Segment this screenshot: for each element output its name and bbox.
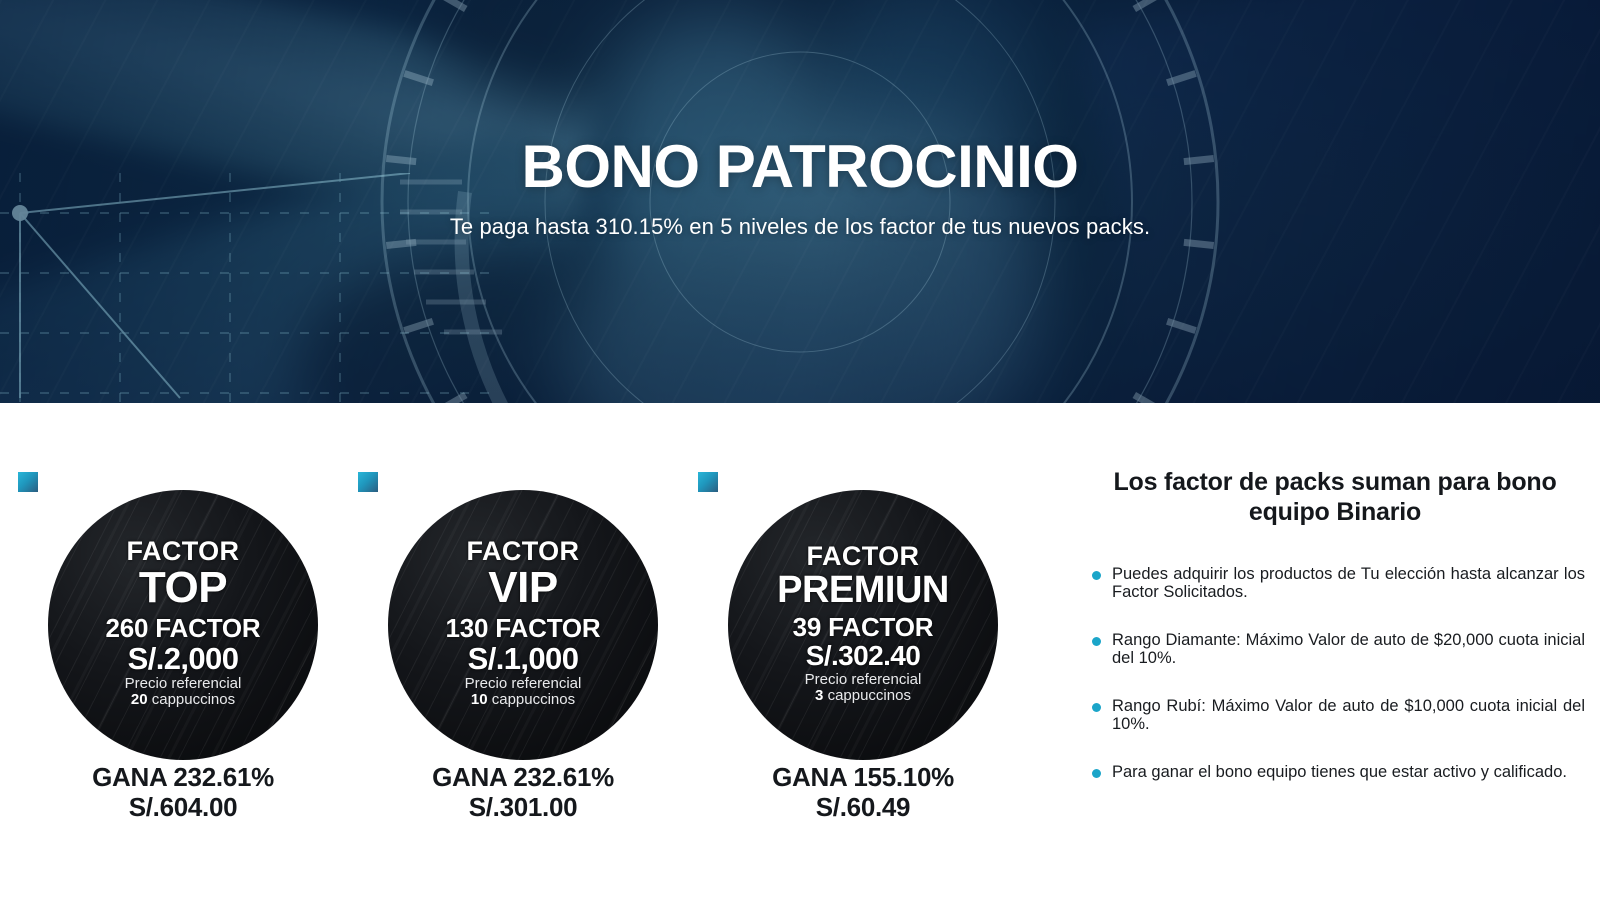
- pack-cappuccinos: 10 cappuccinos: [471, 692, 575, 708]
- page-title: BONO PATROCINIO: [0, 137, 1600, 197]
- list-item-text: Rango Rubí: Máximo Valor de auto de $10,…: [1112, 697, 1585, 734]
- pack-badge-circle[interactable]: FACTOR VIP 130 FACTOR S/.1,000 Precio re…: [388, 490, 658, 760]
- info-bullet-list: Puedes adquirir los productos de Tu elec…: [1085, 565, 1585, 781]
- pack-cappuccinos-label: cappuccinos: [152, 691, 235, 708]
- pack-factor-quantity: 39 FACTOR: [793, 614, 934, 641]
- pack-gana-amount: S/.301.00: [388, 792, 658, 822]
- pack-gana-block: GANA 155.10% S/.60.49: [728, 762, 998, 823]
- pack-factor-quantity: 130 FACTOR: [445, 615, 600, 642]
- square-marker-icon: [698, 472, 718, 492]
- list-item-text: Puedes adquirir los productos de Tu elec…: [1112, 565, 1585, 602]
- pack-badge-circle[interactable]: FACTOR PREMIUN 39 FACTOR S/.302.40 Preci…: [728, 490, 998, 760]
- pack-cappuccinos-label: cappuccinos: [828, 687, 911, 704]
- pack-ref-label: Precio referencial: [125, 676, 242, 692]
- list-item-text: Para ganar el bono equipo tienes que est…: [1112, 763, 1585, 781]
- list-item: Puedes adquirir los productos de Tu elec…: [1085, 565, 1585, 602]
- pack-factor-label: FACTOR: [467, 538, 580, 565]
- pack-gana-amount: S/.60.49: [728, 792, 998, 822]
- pack-gana-block: GANA 232.61% S/.604.00: [48, 762, 318, 823]
- bullet-dot-icon: [1092, 637, 1101, 646]
- pack-ref-label: Precio referencial: [805, 672, 922, 688]
- pack-price: S/.302.40: [806, 642, 920, 670]
- pack-cappuccinos: 3 cappuccinos: [815, 688, 911, 704]
- pack-cappuccinos-label: cappuccinos: [492, 691, 575, 708]
- pack-gana-percent: GANA 232.61%: [92, 762, 274, 792]
- page-subtitle: Te paga hasta 310.15% en 5 niveles de lo…: [0, 214, 1600, 240]
- pack-gana-percent: GANA 155.10%: [772, 762, 954, 792]
- list-item: Rango Diamante: Máximo Valor de auto de …: [1085, 631, 1585, 668]
- square-marker-icon: [358, 472, 378, 492]
- square-marker-icon: [18, 472, 38, 492]
- pack-cappuccinos-count: 20: [131, 691, 148, 708]
- pack-tier-name: PREMIUN: [777, 571, 949, 609]
- pack-price: S/.2,000: [128, 643, 239, 674]
- info-panel-title: Los factor de packs suman para bono equi…: [1085, 468, 1585, 527]
- hero-banner: BONO PATROCINIO Te paga hasta 310.15% en…: [0, 0, 1600, 403]
- pack-tier-name: VIP: [488, 566, 557, 610]
- bullet-dot-icon: [1092, 571, 1101, 580]
- list-item: Para ganar el bono equipo tienes que est…: [1085, 763, 1585, 781]
- content-area: FACTOR TOP 260 FACTOR S/.2,000 Precio re…: [0, 403, 1600, 900]
- pack-gana-percent: GANA 232.61%: [432, 762, 614, 792]
- pack-gana-amount: S/.604.00: [48, 792, 318, 822]
- pack-ref-label: Precio referencial: [465, 676, 582, 692]
- list-item-text: Rango Diamante: Máximo Valor de auto de …: [1112, 631, 1585, 668]
- pack-factor-label: FACTOR: [127, 538, 240, 565]
- bullet-dot-icon: [1092, 769, 1101, 778]
- pack-factor-label: FACTOR: [807, 543, 920, 570]
- pack-badge-circle[interactable]: FACTOR TOP 260 FACTOR S/.2,000 Precio re…: [48, 490, 318, 760]
- pack-factor-quantity: 260 FACTOR: [105, 615, 260, 642]
- pack-cappuccinos: 20 cappuccinos: [131, 692, 235, 708]
- pack-cappuccinos-count: 10: [471, 691, 488, 708]
- pack-tier-name: TOP: [139, 566, 227, 610]
- info-panel: Los factor de packs suman para bono equi…: [1085, 468, 1585, 781]
- pack-gana-block: GANA 232.61% S/.301.00: [388, 762, 658, 823]
- pack-price: S/.1,000: [468, 643, 579, 674]
- bullet-dot-icon: [1092, 703, 1101, 712]
- pack-cappuccinos-count: 3: [815, 687, 823, 704]
- list-item: Rango Rubí: Máximo Valor de auto de $10,…: [1085, 697, 1585, 734]
